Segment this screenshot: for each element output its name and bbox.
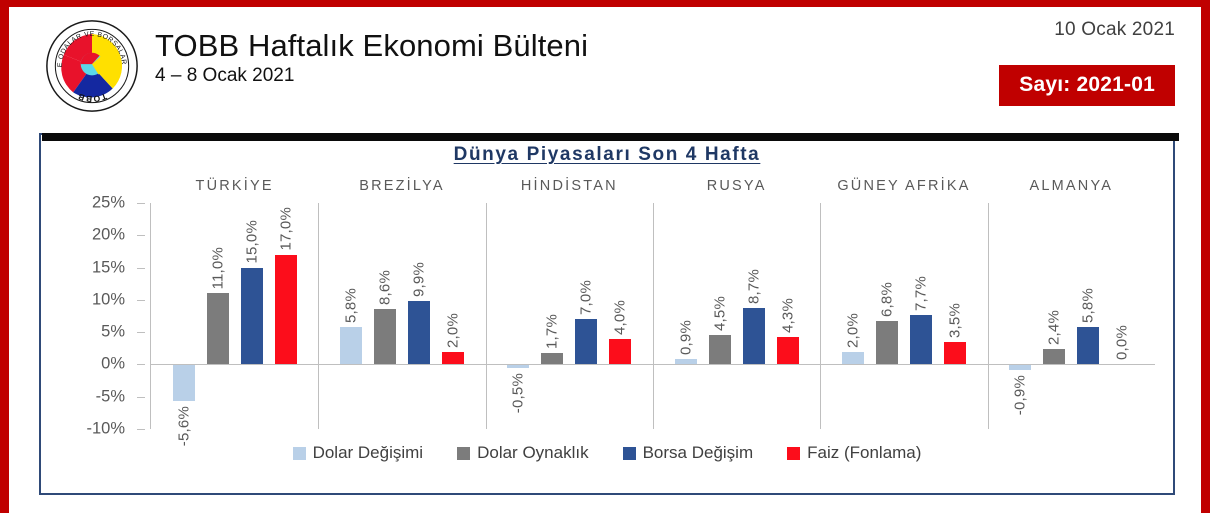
bar-value-label: 8,6%	[376, 270, 393, 305]
bar[interactable]	[944, 342, 966, 365]
bar-group-5: -0,9%2,4%5,8%0,0%	[988, 203, 1155, 429]
bar-value-label: 7,0%	[578, 280, 595, 315]
bar[interactable]	[842, 352, 864, 365]
y-tick-mark-1	[137, 235, 145, 236]
bar-value-label: 2,0%	[844, 313, 861, 348]
legend-label: Faiz (Fonlama)	[807, 443, 921, 463]
bar[interactable]	[275, 255, 297, 365]
legend-item-0[interactable]: Dolar Değişimi	[293, 443, 424, 463]
bar-slot: 11,0%	[207, 203, 229, 429]
y-tick-mark-6	[137, 397, 145, 398]
legend-item-2[interactable]: Borsa Değişim	[623, 443, 754, 463]
y-tick-label-4: 5%	[101, 323, 125, 342]
tobb-logo-icon: TÜRKİYE ODALAR VE BORSALAR BİRLİĞİ TOBB	[45, 19, 139, 113]
bar-value-label: 8,7%	[745, 269, 762, 304]
bar-value-label: 4,0%	[612, 300, 629, 335]
bar-slot: -0,9%	[1009, 203, 1031, 429]
legend-swatch-icon	[457, 447, 470, 460]
bar-slot: 2,4%	[1043, 203, 1065, 429]
y-tick-mark-3	[137, 300, 145, 301]
issue-badge: Sayı: 2021-01	[999, 65, 1175, 106]
chart-section: Dünya Piyasaları Son 4 Hafta TÜRKİYEBREZ…	[39, 133, 1175, 495]
bar-value-label: 2,4%	[1046, 310, 1063, 345]
bars-1: 5,8%8,6%9,9%2,0%	[318, 203, 485, 429]
bar-groups: -5,6%11,0%15,0%17,0%5,8%8,6%9,9%2,0%-0,5…	[151, 203, 1155, 429]
bar-value-label: 9,9%	[410, 262, 427, 297]
y-tick-label-2: 15%	[92, 258, 125, 277]
legend-item-1[interactable]: Dolar Oynaklık	[457, 443, 588, 463]
bar-slot: 4,3%	[777, 203, 799, 429]
title-block: TOBB Haftalık Ekonomi Bülteni 4 – 8 Ocak…	[155, 29, 588, 87]
bar-value-label: 2,0%	[444, 313, 461, 348]
y-tick-mark-5	[137, 364, 145, 365]
bar-slot: 0,9%	[675, 203, 697, 429]
y-tick-mark-7	[137, 429, 145, 430]
bar-slot: 17,0%	[275, 203, 297, 429]
legend-label: Dolar Oynaklık	[477, 443, 588, 463]
bar-slot: 0,0%	[1111, 203, 1133, 429]
bar[interactable]	[241, 268, 263, 365]
bar-slot: 8,7%	[743, 203, 765, 429]
page-header: TÜRKİYE ODALAR VE BORSALAR BİRLİĞİ TOBB …	[9, 7, 1201, 127]
bar-slot: 1,7%	[541, 203, 563, 429]
bars-2: -0,5%1,7%7,0%4,0%	[486, 203, 653, 429]
bar-value-label: 5,8%	[1080, 288, 1097, 323]
bar[interactable]	[777, 337, 799, 365]
legend-swatch-icon	[293, 447, 306, 460]
y-tick-mark-2	[137, 268, 145, 269]
bar-slot: 4,5%	[709, 203, 731, 429]
bar-value-label: -5,6%	[175, 406, 192, 446]
bar-slot: 5,8%	[1077, 203, 1099, 429]
y-tick-label-0: 25%	[92, 194, 125, 213]
bar[interactable]	[743, 308, 765, 364]
bar-slot: 4,0%	[609, 203, 631, 429]
category-header-row: TÜRKİYEBREZİLYAHİNDİSTANRUSYAGÜNEY AFRİK…	[41, 178, 1173, 194]
bar[interactable]	[876, 321, 898, 365]
bar[interactable]	[910, 315, 932, 365]
y-tick-label-5: 0%	[101, 355, 125, 374]
bar-slot: 5,8%	[340, 203, 362, 429]
legend-item-3[interactable]: Faiz (Fonlama)	[787, 443, 921, 463]
category-label-5: ALMANYA	[988, 178, 1155, 194]
bar-value-label: 0,0%	[1114, 325, 1131, 360]
bars-0: -5,6%11,0%15,0%17,0%	[151, 203, 318, 429]
publication-date: 10 Ocak 2021	[999, 19, 1175, 41]
category-label-0: TÜRKİYE	[151, 178, 318, 194]
header-right: 10 Ocak 2021 Sayı: 2021-01	[999, 19, 1175, 106]
bar[interactable]	[709, 335, 731, 364]
bar-group-4: 2,0%6,8%7,7%3,5%	[820, 203, 987, 429]
legend-swatch-icon	[787, 447, 800, 460]
bar-slot: 9,9%	[408, 203, 430, 429]
bar-group-2: -0,5%1,7%7,0%4,0%	[486, 203, 653, 429]
bar-group-3: 0,9%4,5%8,7%4,3%	[653, 203, 820, 429]
bar-value-label: 17,0%	[277, 207, 294, 251]
zero-baseline	[150, 364, 1155, 365]
category-label-4: GÜNEY AFRİKA	[820, 178, 987, 194]
bar[interactable]	[541, 353, 563, 364]
bar[interactable]	[1077, 327, 1099, 364]
bar-group-1: 5,8%8,6%9,9%2,0%	[318, 203, 485, 429]
bar[interactable]	[1043, 349, 1065, 364]
bar-value-label: 4,5%	[711, 296, 728, 331]
bar-value-label: 15,0%	[243, 220, 260, 264]
bar[interactable]	[442, 352, 464, 365]
y-tick-label-1: 20%	[92, 226, 125, 245]
chart-legend: Dolar DeğişimiDolar OynaklıkBorsa Değişi…	[41, 443, 1173, 463]
bar-slot: -5,6%	[173, 203, 195, 429]
category-label-2: HİNDİSTAN	[486, 178, 653, 194]
tobb-logo: TÜRKİYE ODALAR VE BORSALAR BİRLİĞİ TOBB	[45, 19, 139, 113]
bar-slot: 2,0%	[442, 203, 464, 429]
bar-value-label: -0,9%	[1012, 375, 1029, 415]
y-axis-labels: 25%20%15%10%5%0%-5%-10%	[41, 203, 137, 429]
bar-slot: 15,0%	[241, 203, 263, 429]
bars-4: 2,0%6,8%7,7%3,5%	[820, 203, 987, 429]
bar-slot: -0,5%	[507, 203, 529, 429]
bar-slot: 6,8%	[876, 203, 898, 429]
bar[interactable]	[408, 301, 430, 365]
y-tick-label-3: 10%	[92, 290, 125, 309]
bar-slot: 3,5%	[944, 203, 966, 429]
y-tick-label-6: -5%	[96, 387, 125, 406]
bar-value-label: 3,5%	[946, 303, 963, 338]
chart-top-rule	[42, 133, 1179, 141]
bar[interactable]	[609, 339, 631, 365]
bar-value-label: 5,8%	[342, 288, 359, 323]
bar-value-label: 7,7%	[912, 276, 929, 311]
bar-value-label: 4,3%	[779, 298, 796, 333]
bar-value-label: 1,7%	[544, 314, 561, 349]
legend-label: Dolar Değişimi	[313, 443, 424, 463]
category-label-1: BREZİLYA	[318, 178, 485, 194]
bar[interactable]	[340, 327, 362, 364]
bar-group-0: -5,6%11,0%15,0%17,0%	[151, 203, 318, 429]
y-tick-label-7: -10%	[86, 420, 125, 439]
bars-3: 0,9%4,5%8,7%4,3%	[653, 203, 820, 429]
bar-value-label: 0,9%	[677, 320, 694, 355]
legend-label: Borsa Değişim	[643, 443, 754, 463]
bar-slot: 7,0%	[575, 203, 597, 429]
page-subtitle: 4 – 8 Ocak 2021	[155, 65, 588, 87]
bar-value-label: 11,0%	[209, 247, 226, 289]
bar[interactable]	[374, 309, 396, 365]
category-label-3: RUSYA	[653, 178, 820, 194]
page-title: TOBB Haftalık Ekonomi Bülteni	[155, 29, 588, 62]
bars-5: -0,9%2,4%5,8%0,0%	[988, 203, 1155, 429]
chart-plot-area: 25%20%15%10%5%0%-5%-10% -5,6%11,0%15,0%1…	[151, 203, 1155, 429]
bulletin-page: TÜRKİYE ODALAR VE BORSALAR BİRLİĞİ TOBB …	[0, 0, 1210, 513]
bar-slot: 2,0%	[842, 203, 864, 429]
bar[interactable]	[173, 364, 195, 400]
bar-slot: 7,7%	[910, 203, 932, 429]
bar[interactable]	[575, 319, 597, 364]
bar-value-label: -0,5%	[510, 373, 527, 413]
bar-value-label: 6,8%	[878, 282, 895, 317]
bar[interactable]	[207, 293, 229, 364]
bar-slot: 8,6%	[374, 203, 396, 429]
y-tick-mark-4	[137, 332, 145, 333]
y-tick-mark-0	[137, 203, 145, 204]
chart-card: Dünya Piyasaları Son 4 Hafta TÜRKİYEBREZ…	[39, 133, 1175, 495]
legend-swatch-icon	[623, 447, 636, 460]
